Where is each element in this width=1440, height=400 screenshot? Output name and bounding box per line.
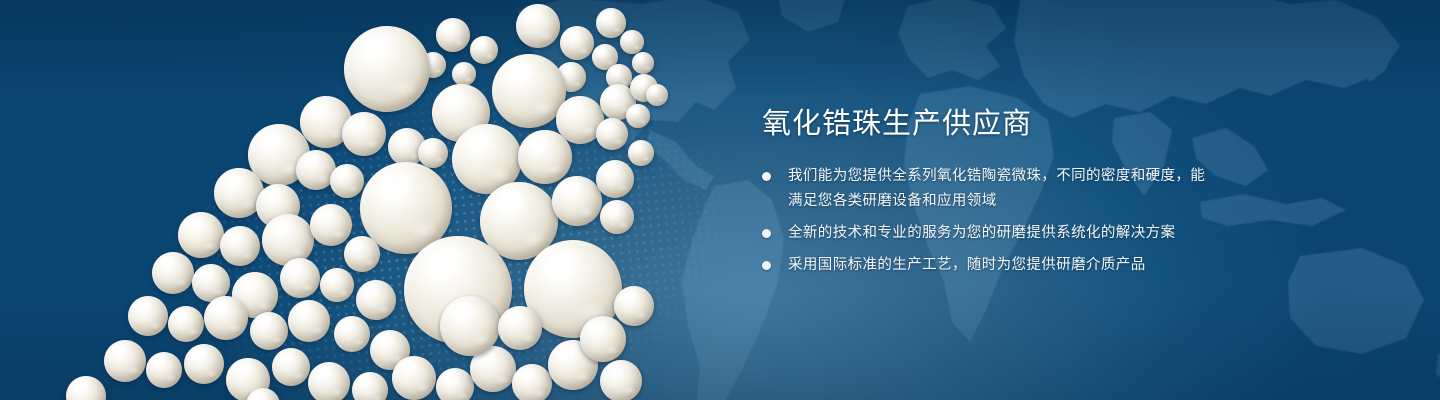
hero-banner: 氧化锆珠生产供应商 我们能为您提供全系列氧化锆陶瓷微珠，不同的密度和硬度，能满足… — [0, 0, 1440, 400]
list-item-text: 全新的技术和专业的服务为您的研磨提供系统化的解决方案 — [788, 221, 1175, 246]
banner-content: 氧化锆珠生产供应商 我们能为您提供全系列氧化锆陶瓷微珠，不同的密度和硬度，能满足… — [760, 104, 1360, 285]
list-item: 我们能为您提供全系列氧化锆陶瓷微珠，不同的密度和硬度，能满足您各类研磨设备和应用… — [760, 164, 1360, 214]
feature-list: 我们能为您提供全系列氧化锆陶瓷微珠，不同的密度和硬度，能满足您各类研磨设备和应用… — [760, 164, 1360, 278]
bullet-dot-icon — [762, 172, 771, 181]
bullet-dot-icon — [762, 229, 771, 238]
list-item-text: 我们能为您提供全系列氧化锆陶瓷微珠，不同的密度和硬度，能满足您各类研磨设备和应用… — [788, 164, 1218, 214]
list-item: 全新的技术和专业的服务为您的研磨提供系统化的解决方案 — [760, 221, 1360, 246]
list-item: 采用国际标准的生产工艺，随时为您提供研磨介质产品 — [760, 253, 1360, 278]
zirconia-beads-image — [0, 0, 760, 400]
bullet-dot-icon — [762, 261, 771, 270]
list-item-text: 采用国际标准的生产工艺，随时为您提供研磨介质产品 — [788, 253, 1146, 278]
page-title: 氧化锆珠生产供应商 — [762, 104, 1360, 142]
